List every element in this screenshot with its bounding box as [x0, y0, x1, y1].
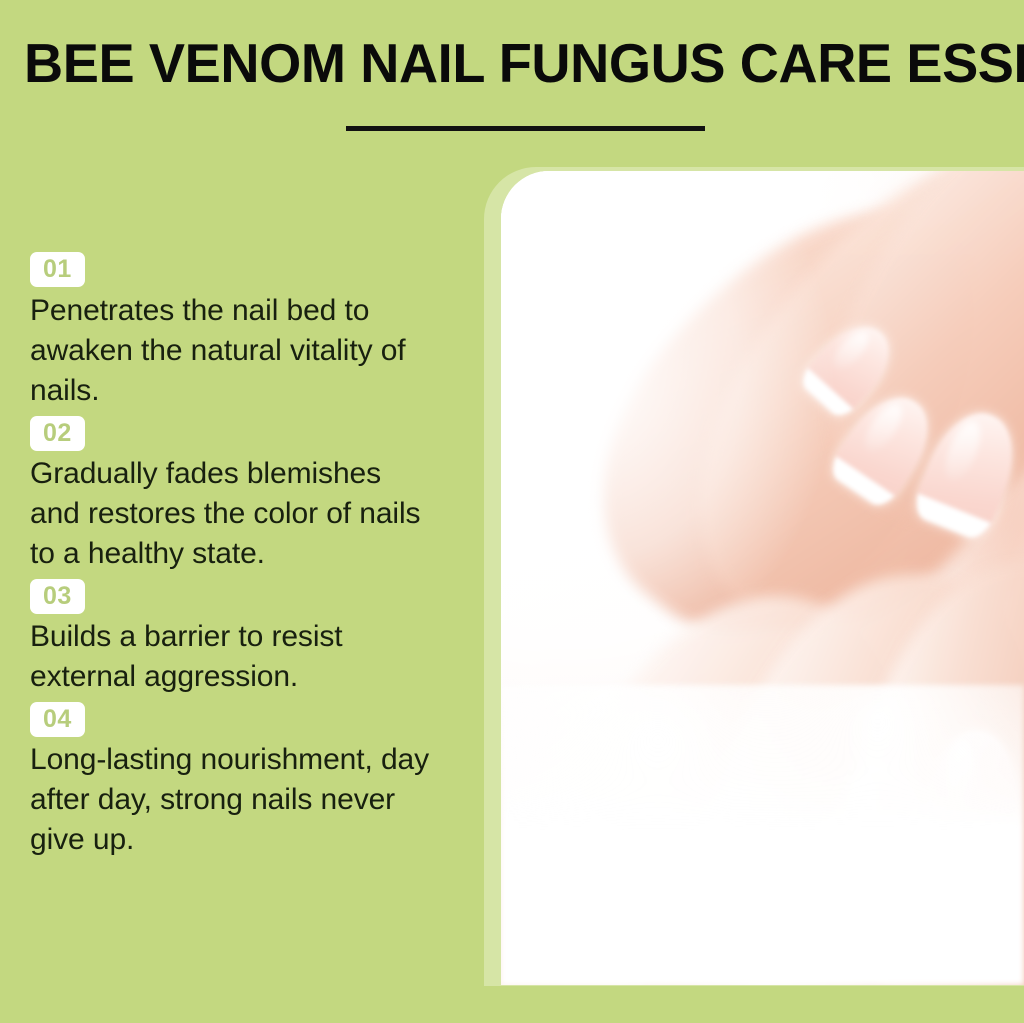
feature-item-03: 03 Builds a barrier to resist external a… — [30, 579, 450, 697]
hands-photo-image — [501, 171, 1024, 985]
poster-header: BEE VENOM NAIL FUNGUS CARE ESSENCE — [0, 0, 1024, 150]
feature-description: Builds a barrier to resist external aggr… — [30, 617, 435, 697]
poster-canvas: BEE VENOM NAIL FUNGUS CARE ESSENCE 01 Pe… — [0, 0, 1024, 1023]
feature-list: 01 Penetrates the nail bed to awaken the… — [30, 252, 450, 862]
feature-description: Gradually fades blemishes and restores t… — [30, 454, 435, 574]
feature-description: Penetrates the nail bed to awaken the na… — [30, 291, 435, 411]
white-towel-background — [501, 685, 1024, 985]
feature-number-badge: 01 — [30, 252, 85, 287]
feature-number-badge: 02 — [30, 416, 85, 451]
feature-number-badge: 03 — [30, 579, 85, 614]
title-underline-rule — [346, 126, 705, 131]
feature-item-02: 02 Gradually fades blemishes and restore… — [30, 416, 450, 574]
feature-number-badge: 04 — [30, 702, 85, 737]
feature-description: Long-lasting nourishment, day after day,… — [30, 740, 435, 860]
page-title: BEE VENOM NAIL FUNGUS CARE ESSENCE — [24, 33, 987, 93]
feature-item-01: 01 Penetrates the nail bed to awaken the… — [30, 252, 450, 411]
feature-item-04: 04 Long-lasting nourishment, day after d… — [30, 702, 450, 860]
product-photo-panel — [501, 171, 1024, 985]
